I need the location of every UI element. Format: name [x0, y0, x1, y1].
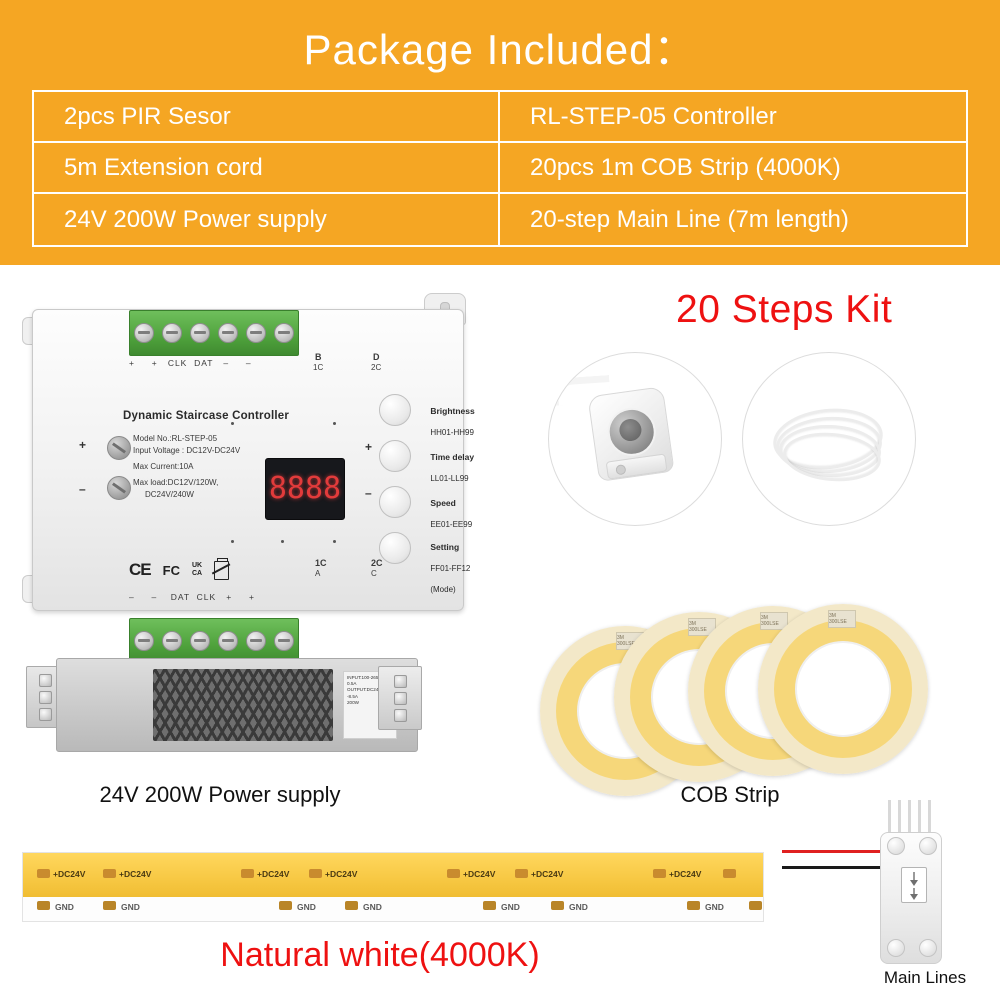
solder-pad	[241, 869, 254, 878]
indicator-dot	[281, 540, 284, 543]
ce-mark-icon: CE	[129, 560, 151, 580]
plus-label: +DC24V	[531, 869, 563, 879]
power-supply-photo: INPUT:100-265V AC 0.5A OUTPUT:DC24V---8.…	[26, 650, 446, 760]
connector-hole-icon	[887, 939, 905, 957]
port-d-sub-label: 2C	[371, 363, 381, 373]
down-arrow-icon	[902, 868, 926, 902]
terminal-screw-icon[interactable]	[134, 631, 154, 651]
seven-segment-display: 8888	[265, 458, 345, 520]
gnd-solder-pad	[483, 901, 496, 910]
brightness-button[interactable]	[379, 394, 411, 426]
table-row: 20pcs 1m COB Strip (4000K)	[500, 143, 966, 194]
connector-hole-icon	[919, 939, 937, 957]
port-b-sub-label: 1C	[313, 363, 323, 373]
terminal-screw-icon[interactable]	[162, 323, 182, 343]
psu-screw-icon	[39, 674, 52, 687]
port-d-label: D	[373, 352, 380, 363]
table-row: 20-step Main Line (7m length)	[500, 194, 966, 245]
coiled-cable	[773, 405, 885, 471]
gnd-label: GND	[569, 902, 588, 912]
table-row: 24V 200W Power supply	[34, 194, 500, 245]
spec-line-current: Max Current:10A	[133, 462, 193, 472]
top-terminal-labels: + + CLK DAT – –	[129, 358, 252, 369]
cob-caption: COB Strip	[600, 782, 860, 808]
terminal-screw-icon[interactable]	[246, 631, 266, 651]
solder-pad	[653, 869, 666, 878]
natural-white-label: Natural white(4000K)	[0, 936, 760, 975]
psu-vent-grille	[153, 669, 333, 741]
plus-label: +DC24V	[669, 869, 701, 879]
solder-pad	[723, 869, 736, 878]
gnd-label: GND	[297, 902, 316, 912]
setting-name: Setting	[430, 542, 459, 552]
terminal-screw-icon[interactable]	[218, 631, 238, 651]
brightness-range: HH01-HH99	[430, 428, 474, 437]
staircase-controller-photo: + + CLK DAT – – B 1C D 2C Dynamic Stairc…	[22, 283, 482, 633]
side-minus-label: –	[79, 482, 86, 496]
port-2c-sub-label: C	[371, 569, 377, 579]
psu-caption: 24V 200W Power supply	[40, 782, 400, 808]
connector-hole-icon	[919, 837, 937, 855]
cob-reel: 3M 300LSE	[758, 604, 928, 774]
terminal-screw-icon[interactable]	[162, 631, 182, 651]
spec-line-voltage: Input Voltage : DC12V-DC24V	[133, 446, 240, 456]
speed-name: Speed	[430, 498, 456, 508]
bottom-terminal-labels: – – DAT CLK + +	[129, 592, 255, 603]
brightness-name: Brightness	[430, 406, 474, 416]
time-delay-button[interactable]	[379, 440, 411, 472]
port-b-label: B	[315, 352, 322, 363]
gnd-label: GND	[55, 902, 74, 912]
sensor-mount-bracket	[606, 453, 668, 479]
plus-label: +DC24V	[53, 869, 85, 879]
port-1c-label: 1C	[315, 558, 327, 569]
solder-pad	[103, 869, 116, 878]
psu-screw-icon	[39, 708, 52, 721]
main-lines-caption: Main Lines	[860, 968, 990, 988]
plus-label: +DC24V	[257, 869, 289, 879]
indicator-dot	[231, 422, 234, 425]
solder-pad	[447, 869, 460, 878]
gnd-solder-pad	[749, 901, 762, 910]
plus-label: +DC24V	[119, 869, 151, 879]
table-row: RL-STEP-05 Controller	[500, 92, 966, 143]
side-plus-label: +	[79, 438, 86, 452]
gnd-solder-pad	[37, 901, 50, 910]
gnd-label: GND	[705, 902, 724, 912]
psu-output-terminal	[378, 666, 422, 730]
main-line-wire	[898, 800, 901, 836]
speed-button[interactable]	[379, 486, 411, 518]
solder-pad	[309, 869, 322, 878]
package-banner: Package Included： 2pcs PIR Sesor RL-STEP…	[0, 0, 1000, 265]
button-minus-marker: –	[365, 486, 372, 500]
indicator-dot	[333, 540, 336, 543]
plus-label: +DC24V	[325, 869, 357, 879]
negative-lead-wire	[782, 866, 880, 869]
gnd-label: GND	[363, 902, 382, 912]
setting-label: Setting FF01-FF12 (Mode)	[417, 532, 470, 606]
speed-range: EE01-EE99	[430, 520, 472, 529]
main-line-wire	[908, 800, 911, 836]
button-plus-marker: +	[365, 440, 372, 454]
sensor-body	[587, 386, 674, 482]
connector-contact-window	[901, 867, 927, 903]
gnd-solder-pad	[551, 901, 564, 910]
ukca-mark-icon: UKCA	[192, 562, 202, 577]
time-delay-name: Time delay	[430, 452, 474, 462]
gnd-solder-pad	[279, 901, 292, 910]
positive-lead-wire	[782, 850, 880, 853]
pir-sensor-photo	[548, 352, 722, 526]
setting-note: (Mode)	[430, 585, 455, 594]
terminal-screw-icon[interactable]	[190, 323, 210, 343]
main-line-wire	[918, 800, 921, 836]
connector-hole-icon	[887, 837, 905, 855]
cob-strip-reels-photo: 3M 300LSE 3M 300LSE 3M 300LSE 3M 300LSE	[540, 630, 960, 780]
table-row: 5m Extension cord	[34, 143, 500, 194]
psu-screw-icon	[394, 692, 407, 705]
main-line-wire	[928, 800, 931, 836]
cob-strip-closeup: +DC24V +DC24V +DC24V +DC24V +DC24V +DC24…	[22, 852, 764, 922]
terminal-screw-icon[interactable]	[246, 323, 266, 343]
reel-hub	[795, 641, 891, 737]
main-line-connector-body	[880, 832, 942, 964]
terminal-screw-icon[interactable]	[218, 323, 238, 343]
main-line-wire	[888, 800, 891, 836]
gnd-solder-pad	[345, 901, 358, 910]
gnd-solder-pad	[103, 901, 116, 910]
package-included-table: 2pcs PIR Sesor RL-STEP-05 Controller 5m …	[32, 90, 968, 247]
steps-kit-label: 20 Steps Kit	[676, 288, 892, 332]
chassis-screw-icon	[107, 476, 131, 500]
extension-cord-photo	[742, 352, 916, 526]
solder-pad	[515, 869, 528, 878]
pir-lens-icon	[605, 405, 659, 459]
terminal-screw-icon[interactable]	[274, 323, 294, 343]
gnd-label: GND	[501, 902, 520, 912]
display-value: 8888	[269, 474, 341, 504]
terminal-screw-icon[interactable]	[190, 631, 210, 651]
psu-screw-icon	[39, 691, 52, 704]
port-1c-sub-label: A	[315, 569, 320, 579]
time-delay-label: Time delay LL01-LL99	[417, 442, 474, 495]
solder-pad	[37, 869, 50, 878]
top-terminal-block[interactable]	[129, 310, 299, 356]
psu-output-screws	[379, 667, 421, 729]
gnd-label: GND	[121, 902, 140, 912]
brightness-label: Brightness HH01-HH99	[417, 396, 475, 449]
psu-screw-icon	[394, 709, 407, 722]
indicator-dot	[333, 422, 336, 425]
psu-screw-icon	[394, 675, 407, 688]
psu-case: INPUT:100-265V AC 0.5A OUTPUT:DC24V---8.…	[56, 658, 418, 752]
spec-line-load-2: DC24V/240W	[145, 490, 194, 500]
indicator-dot	[231, 540, 234, 543]
time-delay-range: LL01-LL99	[430, 474, 468, 483]
fcc-mark-icon: FC	[163, 563, 180, 578]
adhesive-tape-label: 3M 300LSE	[828, 610, 856, 628]
chassis-screw-icon	[107, 436, 131, 460]
page-title: Package Included：	[0, 16, 1000, 77]
spec-line-model: Model No.:RL-STEP-05	[133, 434, 217, 444]
controller-model-title: Dynamic Staircase Controller	[123, 410, 289, 422]
main-lines-photo: Main Lines	[862, 800, 992, 1000]
table-row: 2pcs PIR Sesor	[34, 92, 500, 143]
certification-marks: CE FC UKCA	[129, 560, 229, 580]
controller-body: + + CLK DAT – – B 1C D 2C Dynamic Stairc…	[32, 309, 464, 611]
plus-label: +DC24V	[463, 869, 495, 879]
gnd-solder-pad	[687, 901, 700, 910]
setting-button[interactable]	[379, 532, 411, 564]
spec-line-load-1: Max load:DC12V/120W,	[133, 478, 218, 488]
port-2c-label: 2C	[371, 558, 383, 569]
terminal-screw-icon[interactable]	[274, 631, 294, 651]
setting-range: FF01-FF12	[430, 564, 470, 573]
weee-bin-icon	[214, 561, 229, 580]
terminal-screw-icon[interactable]	[134, 323, 154, 343]
